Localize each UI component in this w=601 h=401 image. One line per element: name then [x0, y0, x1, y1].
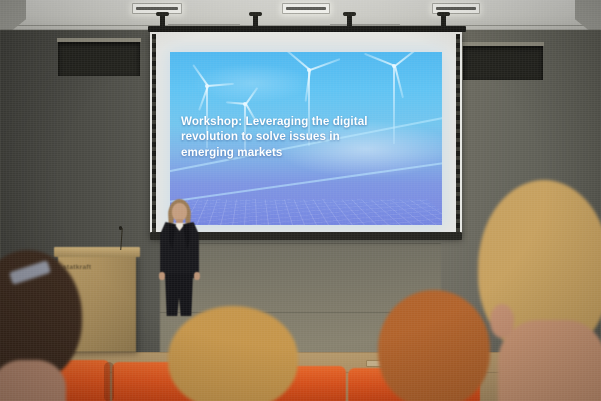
microphone-icon: [119, 226, 122, 230]
solar-panel-array: [170, 200, 442, 225]
slide-title-line-3: emerging markets: [181, 145, 421, 160]
turbine-blade: [394, 66, 404, 99]
presenter-hand-left: [159, 272, 165, 280]
audience-hair: [378, 290, 490, 401]
audience-hair: [168, 306, 298, 401]
turbine-blade: [394, 52, 421, 67]
seat-gap-shadow-1: [104, 362, 114, 401]
rail-mount-4: [441, 14, 446, 27]
presenter-hand-right: [194, 272, 200, 280]
hair-strand-texture: [168, 306, 298, 401]
screen-tensioner-left: [152, 34, 156, 236]
wall-alcove-left: [58, 42, 140, 76]
audience-neck: [498, 320, 601, 401]
solar-array-rail-2: [170, 159, 442, 204]
turbine-hub: [307, 68, 311, 72]
conference-room-photo: Workshop: Leveraging the digital revolut…: [0, 0, 601, 401]
turbine-hub: [243, 102, 247, 106]
rail-mount-2: [253, 14, 258, 27]
turbine-blade: [208, 83, 234, 87]
rail-mount-1: [160, 14, 165, 27]
turbine-hub: [392, 64, 396, 68]
turbine-blade: [245, 87, 258, 105]
audience-neck: [0, 360, 66, 401]
screen-tensioner-right: [456, 34, 460, 236]
turbine-blade: [310, 58, 341, 71]
hair-strand-texture: [378, 290, 490, 401]
turbine-hub: [205, 84, 209, 88]
audience-head-right-auburn: [378, 290, 494, 401]
slide-title: Workshop: Leveraging the digital revolut…: [181, 114, 421, 160]
slide-surface: Workshop: Leveraging the digital revolut…: [170, 52, 442, 225]
rail-mount-3: [347, 14, 352, 27]
ceiling-light-2: [282, 3, 330, 14]
turbine-blade: [364, 53, 395, 67]
audience-head-left-dark: [0, 250, 86, 401]
audience-head-center-blond: [168, 306, 300, 401]
wall-alcove-right: [463, 46, 543, 80]
slide-title-line-2: revolution to solve issues in: [181, 129, 421, 144]
slide-title-line-1: Workshop: Leveraging the digital: [181, 114, 421, 129]
